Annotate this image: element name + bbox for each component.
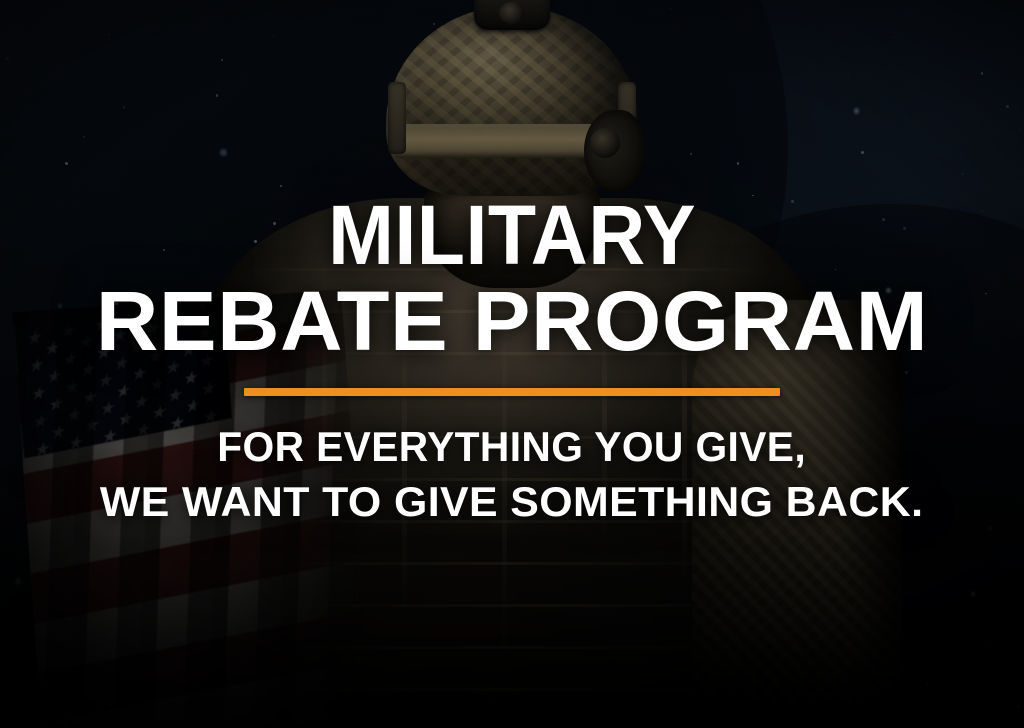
subheadline-line-2: WE WANT TO GIVE SOMETHING BACK. xyxy=(100,477,923,527)
military-rebate-banner: ★★★★★★★★★★★★★★★★★★★★★★★★★★★★★★★★★★★★★★★★… xyxy=(0,0,1024,728)
subheadline: FOR EVERYTHING YOU GIVE, WE WANT TO GIVE… xyxy=(108,422,915,527)
subheadline-line-1: FOR EVERYTHING YOU GIVE, xyxy=(120,422,903,472)
headline-line-1: MILITARY xyxy=(132,196,892,276)
headline: MILITARY REBATE PROGRAM xyxy=(108,0,916,362)
banner-content: MILITARY REBATE PROGRAM FOR EVERYTHING Y… xyxy=(0,0,1024,728)
orange-divider xyxy=(244,388,780,396)
headline-line-2: REBATE PROGRAM xyxy=(96,282,928,362)
